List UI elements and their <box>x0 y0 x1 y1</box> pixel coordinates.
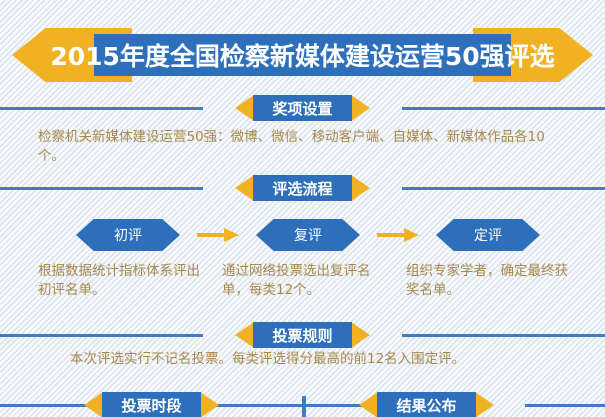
arrow-head <box>224 228 239 242</box>
header-box: 结果公布 <box>377 392 476 417</box>
title-box: 2015年度全国检察新媒体建设运营50强评选 <box>94 34 511 76</box>
process-step-2: 复评 <box>256 219 360 251</box>
bottom-panel-divider <box>302 396 306 417</box>
arrow-shaft <box>197 233 225 237</box>
process-step-3-description: 组织专家学者，确定最终获奖名单。 <box>406 262 574 300</box>
process-step-2-description: 通过网络投票选出复评名单，每类12个。 <box>222 262 394 300</box>
section-header-voting-period: 投票时段 <box>0 392 302 417</box>
arrow-shaft <box>377 233 405 237</box>
header-rule-right <box>402 107 605 110</box>
section-header-label: 投票时段 <box>121 395 181 416</box>
awards-body-text: 检察机关新媒体建设运营50强：微博、微信、移动客户端、自媒体、新媒体作品各10个… <box>38 128 568 166</box>
process-step-1-description: 根据数据统计指标体系评出初评名单。 <box>38 262 206 300</box>
section-header-label: 评选流程 <box>272 178 332 199</box>
section-header-results: 结果公布 <box>303 392 605 417</box>
header-rule-left <box>0 107 203 110</box>
header-box: 投票规则 <box>253 322 352 348</box>
process-step-1: 初评 <box>76 219 180 251</box>
header-rule-right <box>402 187 605 190</box>
header-rule-right <box>214 404 302 407</box>
header-box: 评选流程 <box>253 175 352 201</box>
process-step-label: 复评 <box>294 225 322 245</box>
section-header-awards: 奖项设置 <box>0 95 605 121</box>
section-header-label: 投票规则 <box>272 325 332 346</box>
header-rule-left <box>0 334 203 337</box>
arrow-right-icon <box>197 228 239 242</box>
header-box: 奖项设置 <box>253 95 352 121</box>
process-step-3: 定评 <box>436 219 540 251</box>
section-header-label: 结果公布 <box>396 395 456 416</box>
title-banner: 2015年度全国检察新媒体建设运营50强评选 <box>12 28 593 82</box>
voting-rules-body-text: 本次评选实行不记名投票。每类评选得分最高的前12名入围定评。 <box>70 350 550 369</box>
header-rule-left <box>303 404 363 407</box>
header-rule-right <box>525 404 605 407</box>
header-rule-left <box>0 187 203 190</box>
process-step-label: 初评 <box>114 225 142 245</box>
page-title: 2015年度全国检察新媒体建设运营50强评选 <box>50 37 554 73</box>
section-header-label: 奖项设置 <box>272 98 332 119</box>
header-box: 投票时段 <box>102 392 201 417</box>
header-rule-left <box>0 404 88 407</box>
arrow-right-icon <box>377 228 419 242</box>
infographic-poster: 2015年度全国检察新媒体建设运营50强评选 奖项设置 检察机关新媒体建设运营5… <box>0 0 605 417</box>
section-header-voting-rules: 投票规则 <box>0 322 605 348</box>
process-step-label: 定评 <box>474 225 502 245</box>
header-rule-right <box>402 334 605 337</box>
section-header-process: 评选流程 <box>0 175 605 201</box>
arrow-head <box>404 228 419 242</box>
